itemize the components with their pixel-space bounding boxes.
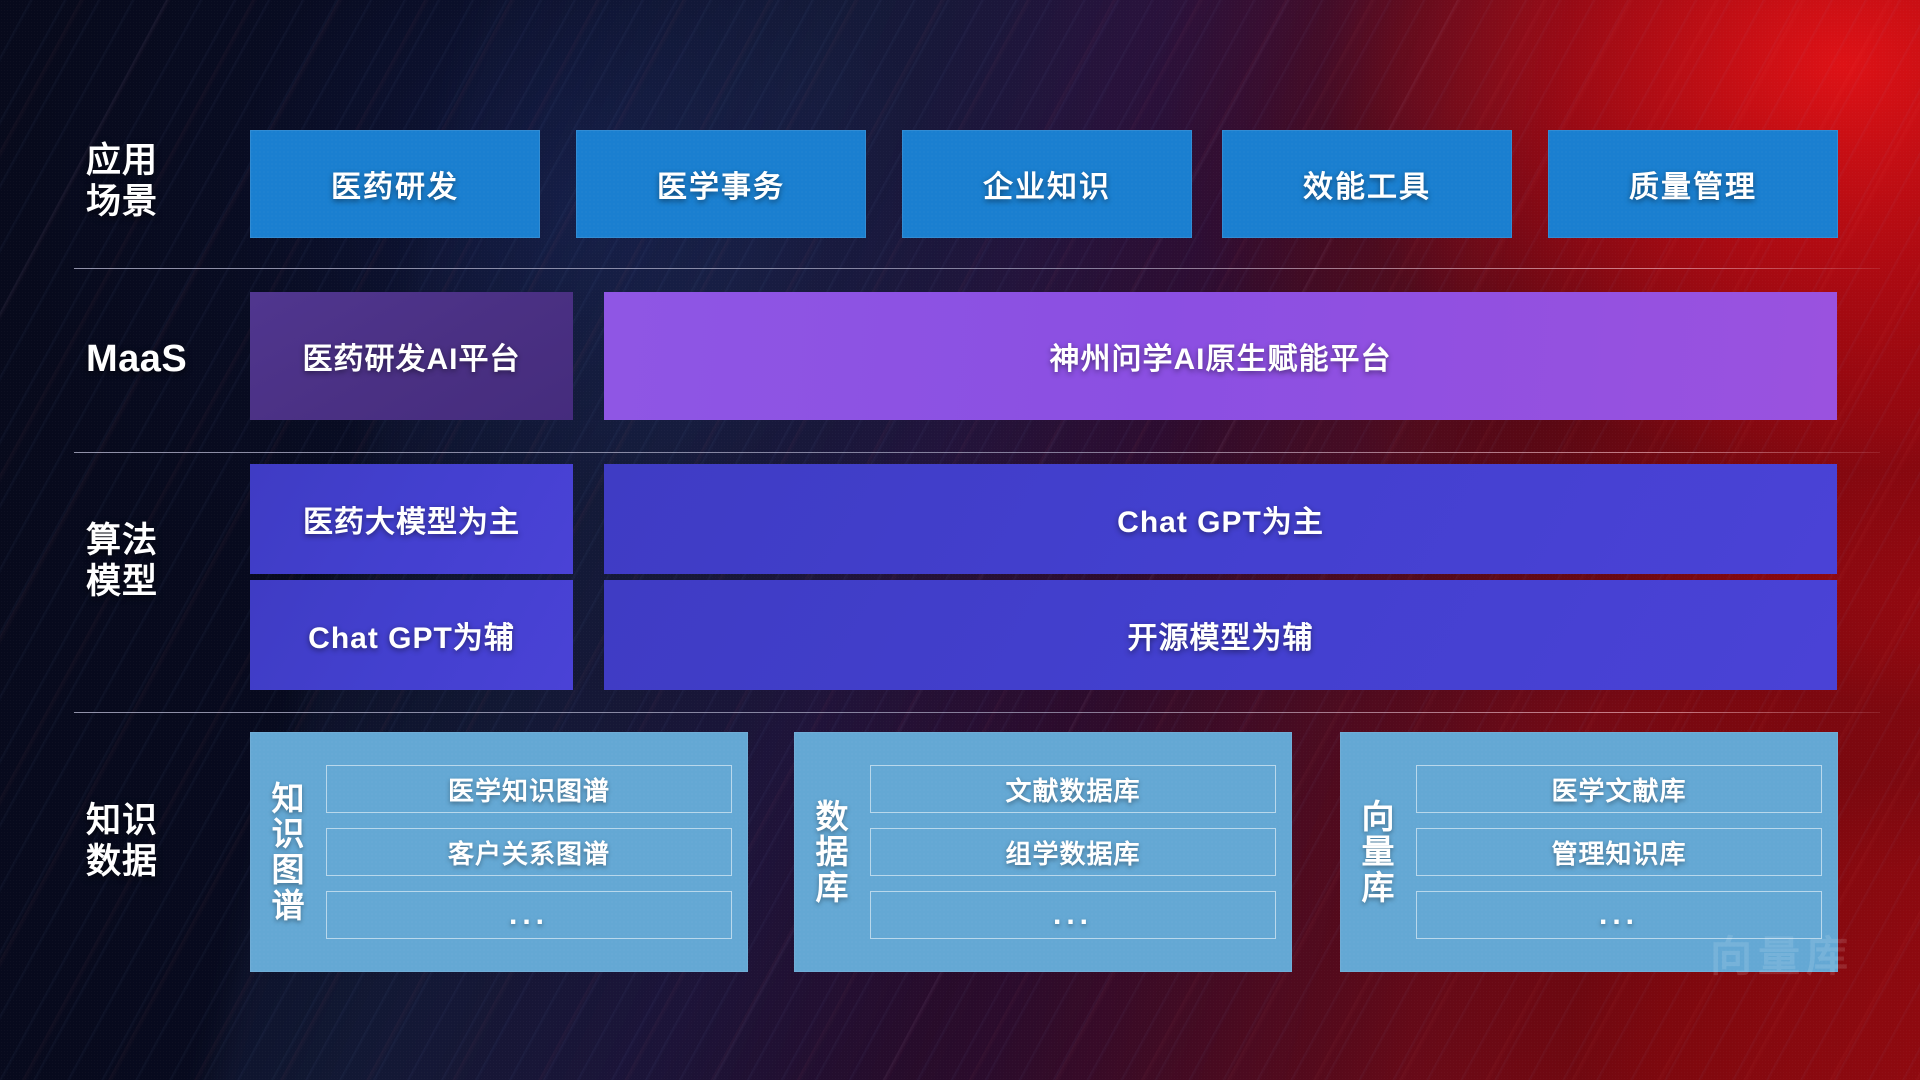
- knowledge-group-2-title: 向 量 库: [1340, 799, 1416, 906]
- knowledge-item-2-1-label: 管理知识库: [1551, 834, 1686, 871]
- scenario-card-4-label: 质量管理: [1629, 162, 1757, 206]
- knowledge-item-2-2[interactable]: ...: [1416, 891, 1822, 939]
- knowledge-item-1-2-label: ...: [1053, 898, 1093, 932]
- knowledge-group-2-title-char-0: 向: [1362, 799, 1395, 835]
- architecture-diagram: 应用 场景 医药研发 医学事务 企业知识 效能工具 质量管理 MaaS 医药研发…: [0, 0, 1920, 1080]
- scenario-card-1-label: 医学事务: [657, 162, 785, 206]
- knowledge-item-0-1-label: 客户关系图谱: [448, 834, 610, 871]
- knowledge-group-2-title-char-1: 量: [1362, 834, 1395, 870]
- scenario-card-1[interactable]: 医学事务: [576, 130, 866, 238]
- scenario-card-2[interactable]: 企业知识: [902, 130, 1192, 238]
- maas-card-shenzhou-platform[interactable]: 神州问学AI原生赋能平台: [604, 292, 1837, 420]
- scenario-card-3[interactable]: 效能工具: [1222, 130, 1512, 238]
- algorithm-card-row0-right[interactable]: Chat GPT为主: [604, 464, 1837, 574]
- divider-maas-algorithm: [74, 452, 1880, 453]
- knowledge-group-0-title-char-3: 谱: [272, 888, 305, 924]
- row-label-knowledge-line1: 知识: [86, 800, 236, 841]
- knowledge-group-2-title-char-2: 库: [1362, 870, 1395, 906]
- knowledge-group-1: 数 据 库 文献数据库 组学数据库 ...: [794, 732, 1292, 972]
- knowledge-item-1-1-label: 组学数据库: [1005, 834, 1140, 871]
- knowledge-item-1-1[interactable]: 组学数据库: [870, 828, 1276, 876]
- knowledge-group-1-title: 数 据 库: [794, 799, 870, 906]
- algorithm-card-row0-left[interactable]: 医药大模型为主: [250, 464, 573, 574]
- maas-card-pharma-ai-platform-label: 医药研发AI平台: [303, 334, 521, 378]
- knowledge-group-1-title-char-1: 据: [816, 834, 849, 870]
- knowledge-group-1-items: 文献数据库 组学数据库 ...: [870, 765, 1276, 939]
- knowledge-item-0-2-label: ...: [509, 898, 549, 932]
- maas-card-shenzhou-platform-label: 神州问学AI原生赋能平台: [1050, 334, 1392, 378]
- knowledge-item-0-2[interactable]: ...: [326, 891, 732, 939]
- knowledge-item-2-0-label: 医学文献库: [1551, 771, 1686, 808]
- row-label-maas: MaaS: [86, 337, 236, 382]
- knowledge-group-0-title-char-2: 图: [272, 852, 305, 888]
- knowledge-item-2-0[interactable]: 医学文献库: [1416, 765, 1822, 813]
- knowledge-item-0-0[interactable]: 医学知识图谱: [326, 765, 732, 813]
- algorithm-card-row1-left[interactable]: Chat GPT为辅: [250, 580, 573, 690]
- algorithm-card-row0-left-label: 医药大模型为主: [303, 497, 520, 541]
- knowledge-item-0-0-label: 医学知识图谱: [448, 771, 610, 808]
- divider-scenario-maas: [74, 268, 1880, 269]
- knowledge-group-0-items: 医学知识图谱 客户关系图谱 ...: [326, 765, 732, 939]
- algorithm-card-row1-right[interactable]: 开源模型为辅: [604, 580, 1837, 690]
- divider-algorithm-knowledge: [74, 712, 1880, 713]
- knowledge-group-0-title-char-1: 识: [272, 816, 305, 852]
- row-label-knowledge: 知识 数据: [86, 800, 236, 883]
- scenario-card-0[interactable]: 医药研发: [250, 130, 540, 238]
- row-label-scenario: 应用 场景: [86, 140, 236, 223]
- row-label-knowledge-line2: 数据: [86, 841, 236, 882]
- knowledge-item-1-0[interactable]: 文献数据库: [870, 765, 1276, 813]
- knowledge-item-1-2[interactable]: ...: [870, 891, 1276, 939]
- row-label-scenario-line1: 应用: [86, 140, 236, 181]
- knowledge-group-0-title-char-0: 知: [272, 781, 305, 817]
- knowledge-group-2-items: 医学文献库 管理知识库 ...: [1416, 765, 1822, 939]
- row-label-algorithm: 算法 模型: [86, 520, 236, 603]
- row-label-algorithm-line1: 算法: [86, 520, 236, 561]
- knowledge-item-2-2-label: ...: [1599, 898, 1639, 932]
- row-label-maas-line1: MaaS: [86, 337, 236, 382]
- scenario-card-0-label: 医药研发: [331, 162, 459, 206]
- scenario-card-2-label: 企业知识: [983, 162, 1111, 206]
- row-label-scenario-line2: 场景: [86, 181, 236, 222]
- row-label-algorithm-line2: 模型: [86, 561, 236, 602]
- scenario-card-3-label: 效能工具: [1303, 162, 1431, 206]
- knowledge-group-1-title-char-2: 库: [816, 870, 849, 906]
- maas-card-pharma-ai-platform[interactable]: 医药研发AI平台: [250, 292, 573, 420]
- knowledge-group-1-title-char-0: 数: [816, 799, 849, 835]
- knowledge-group-2: 向 量 库 医学文献库 管理知识库 ...: [1340, 732, 1838, 972]
- algorithm-card-row0-right-label: Chat GPT为主: [1117, 497, 1324, 541]
- algorithm-card-row1-right-label: 开源模型为辅: [1128, 613, 1314, 657]
- algorithm-card-row1-left-label: Chat GPT为辅: [308, 613, 515, 657]
- knowledge-group-0: 知 识 图 谱 医学知识图谱 客户关系图谱 ...: [250, 732, 748, 972]
- knowledge-item-0-1[interactable]: 客户关系图谱: [326, 828, 732, 876]
- scenario-card-4[interactable]: 质量管理: [1548, 130, 1838, 238]
- knowledge-item-2-1[interactable]: 管理知识库: [1416, 828, 1822, 876]
- knowledge-group-0-title: 知 识 图 谱: [250, 781, 326, 924]
- knowledge-item-1-0-label: 文献数据库: [1005, 771, 1140, 808]
